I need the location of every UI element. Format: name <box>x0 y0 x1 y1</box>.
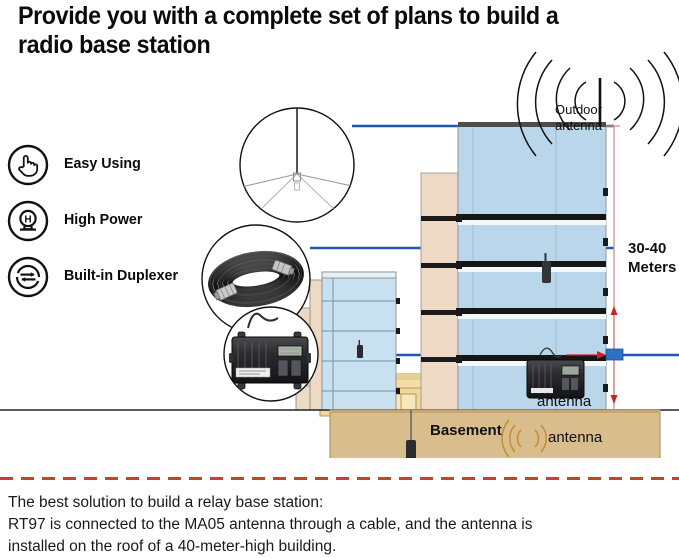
outdoor-antenna-label-line-1: Outdoor <box>555 102 603 117</box>
section-divider <box>0 477 679 480</box>
footer-line-2: RT97 is connected to the MA05 antenna th… <box>8 514 668 536</box>
outdoor-antenna-label: Outdoor antenna <box>555 102 603 133</box>
basement-section: Basement antenna <box>0 410 679 458</box>
footer-line-3: installed on the roof of a 40-meter-high… <box>8 536 668 558</box>
footer-description: The best solution to build a relay base … <box>8 492 668 558</box>
antenna-product-callout <box>233 108 361 222</box>
footer-line-1: The best solution to build a relay base … <box>8 492 668 514</box>
page-title-line-1: Provide you with a complete set of plans… <box>18 2 595 31</box>
height-label-line-1: 30-40 <box>628 240 666 257</box>
base-station-diagram: Outdoor antenna Basement antenna <box>0 48 679 458</box>
outdoor-antenna-label-line-2: antenna <box>555 118 603 133</box>
basement-antenna-label: antenna <box>548 429 603 446</box>
height-label-line-2: Meters <box>628 259 676 276</box>
basement-label: Basement <box>430 422 502 439</box>
repeater-product-callout <box>224 307 318 401</box>
height-label: 30-40 Meters <box>628 240 676 276</box>
indoor-antenna-label: antenna <box>537 393 592 410</box>
